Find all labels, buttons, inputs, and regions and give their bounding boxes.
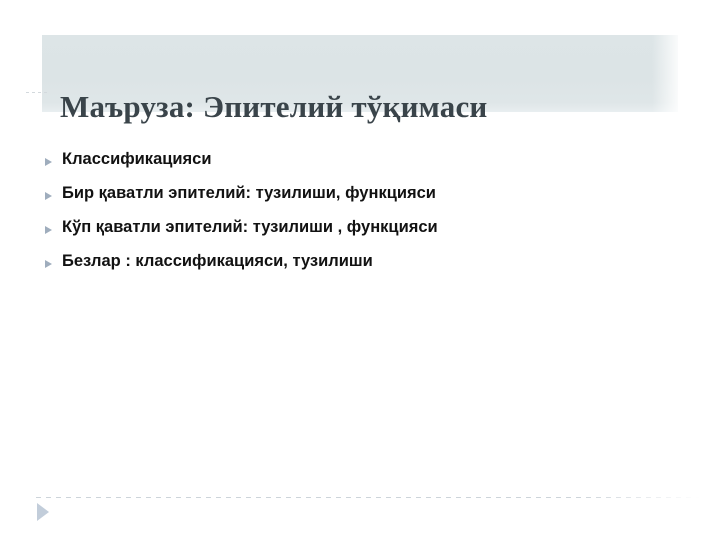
list-item-label: Безлар : классификацияси, тузилиши <box>62 250 664 272</box>
triangle-bullet-icon <box>44 148 62 173</box>
title-left-dash-decoration <box>26 92 48 93</box>
list-item-label: Классификацияси <box>62 148 664 170</box>
list-item: Классификацияси <box>44 148 664 182</box>
page-title: Маъруза: Эпителий тўқимаси <box>60 90 660 124</box>
list-item: Бир қаватли эпителий: тузилиши, функцияс… <box>44 182 664 216</box>
list-item-label: Кўп қаватли эпителий: тузилиши , функция… <box>62 216 664 238</box>
bullet-list: Классификацияси Бир қаватли эпителий: ту… <box>44 148 664 284</box>
footer-divider <box>36 497 700 498</box>
triangle-bullet-icon <box>44 216 62 241</box>
play-triangle-icon <box>37 503 49 521</box>
presentation-slide: Маъруза: Эпителий тўқимаси Классификация… <box>0 0 720 540</box>
list-item: Безлар : классификацияси, тузилиши <box>44 250 664 284</box>
list-item: Кўп қаватли эпителий: тузилиши , функция… <box>44 216 664 250</box>
triangle-bullet-icon <box>44 182 62 207</box>
list-item-label: Бир қаватли эпителий: тузилиши, функцияс… <box>62 182 664 204</box>
triangle-bullet-icon <box>44 250 62 275</box>
